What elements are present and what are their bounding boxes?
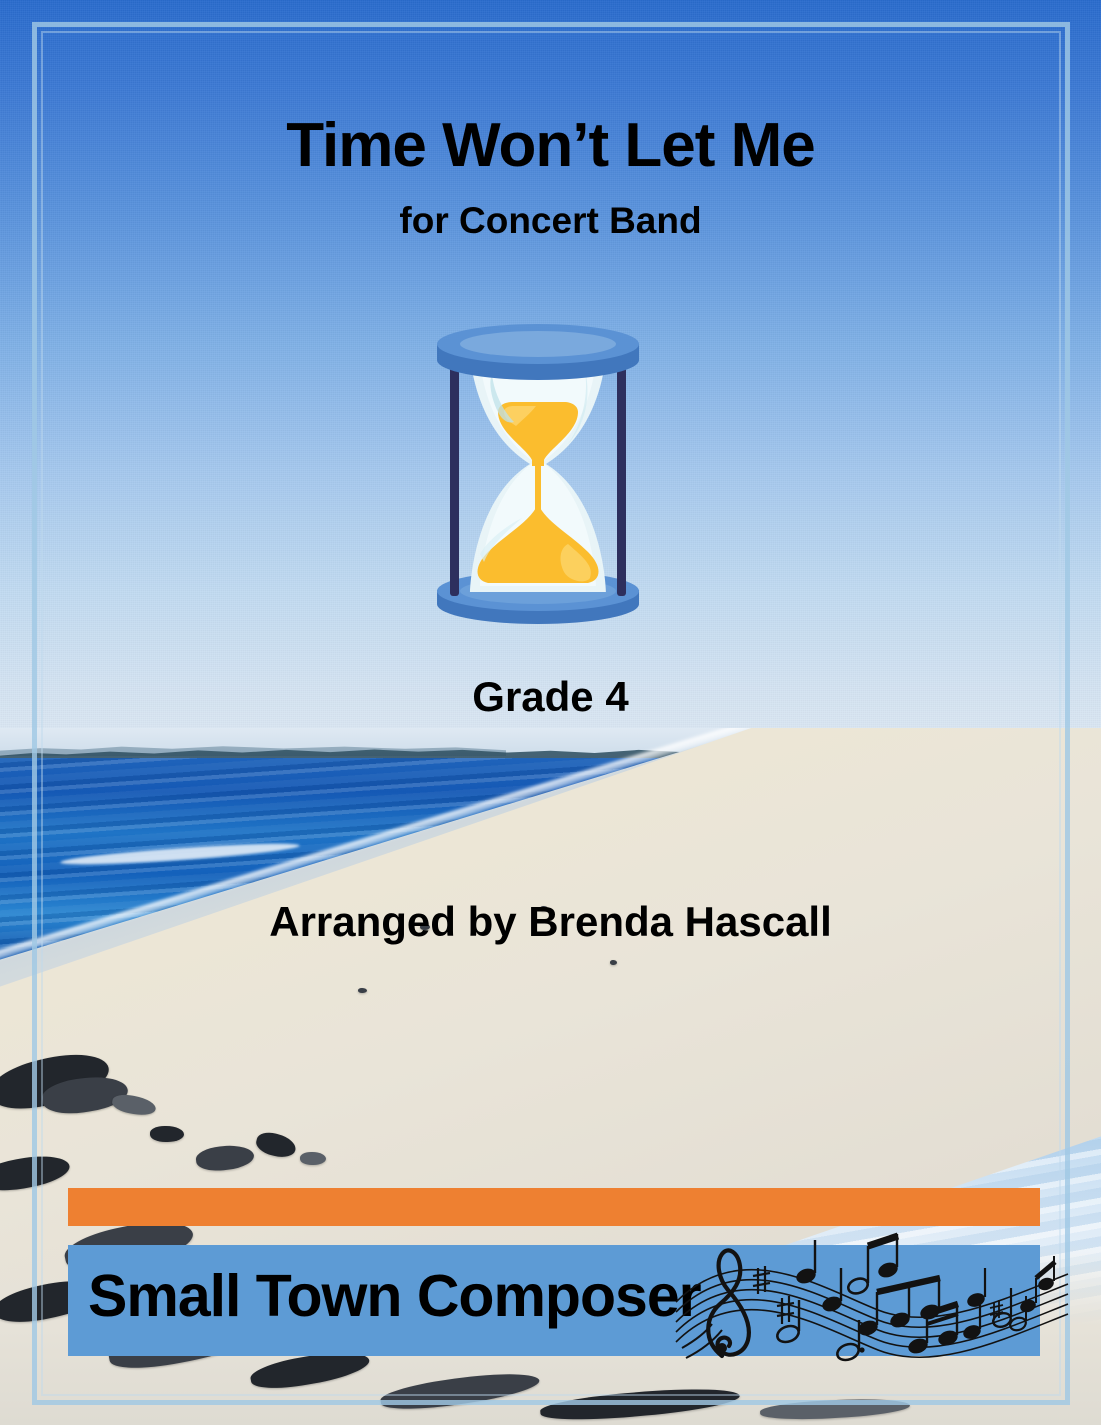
beach-pebble [358, 988, 367, 993]
publisher-name: Small Town Composer [88, 1262, 701, 1330]
page-title: Time Won’t Let Me [0, 113, 1101, 178]
orange-accent-bar [68, 1188, 1040, 1226]
sheet-music-cover: Time Won’t Let Me for Concert Band [0, 0, 1101, 1425]
beach-rock [300, 1152, 326, 1165]
arranger-name: Arranged by Brenda Hascall [0, 898, 1101, 946]
beach-rock [150, 1126, 184, 1142]
beach-pebble [610, 960, 617, 965]
page-subtitle: for Concert Band [0, 200, 1101, 242]
grade-level: Grade 4 [0, 673, 1101, 721]
hourglass-icon [418, 308, 658, 628]
